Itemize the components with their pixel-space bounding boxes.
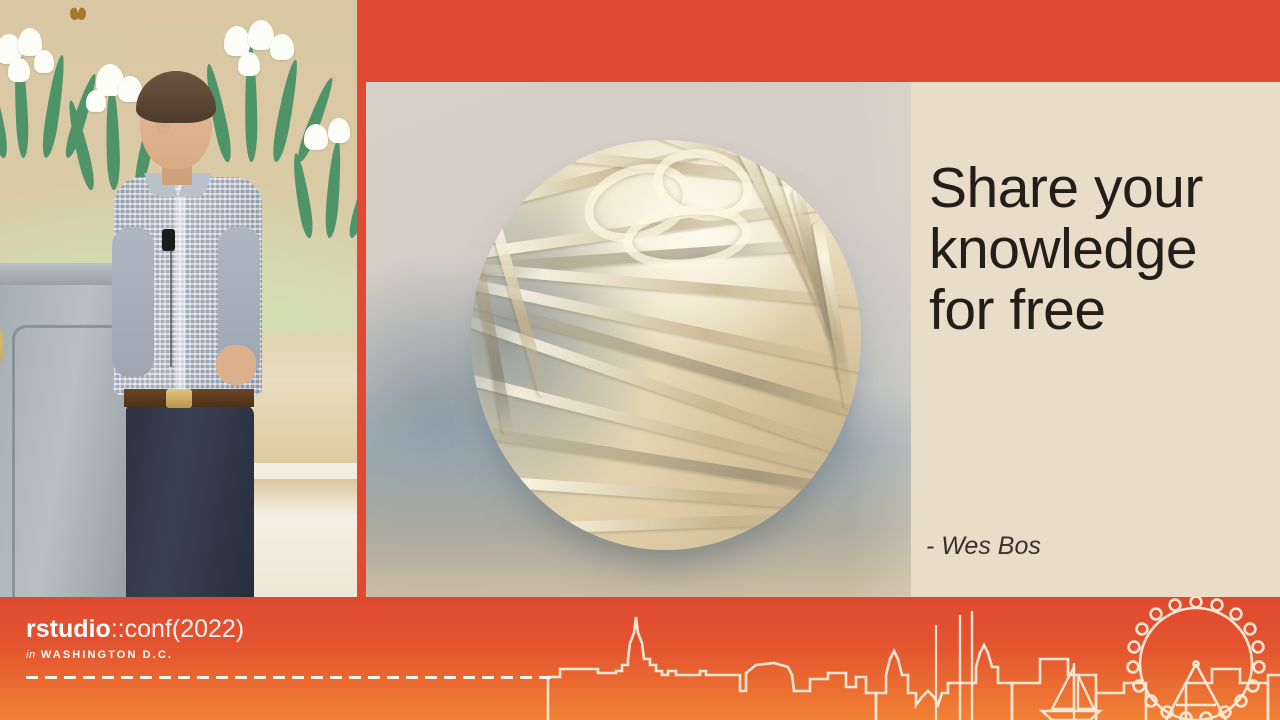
yarn-ball (471, 140, 861, 550)
quote-line-2: knowledge (929, 219, 1269, 280)
quote-line-1: Share your (929, 158, 1269, 219)
slide-quote: Share your knowledge for free (929, 158, 1269, 341)
shirt-placket (176, 181, 185, 393)
mural-butterfly (70, 8, 86, 21)
conference-name: rstudio::conf(2022) (26, 617, 244, 642)
presentation-slide[interactable]: Share your knowledge for free - Wes Bos (366, 82, 1280, 597)
quote-line-3: for free (929, 280, 1269, 341)
ferris-wheel-legs (1166, 664, 1226, 720)
brand-conf-year: ::conf(2022) (111, 615, 244, 643)
speaker-hair (136, 71, 216, 123)
microphone-cord (170, 249, 172, 367)
sailboat-icon (1042, 663, 1100, 720)
speaker (118, 77, 258, 597)
quote-attribution: - Wes Bos (926, 532, 1041, 561)
speaker-arm-left (112, 227, 154, 377)
speaker-hand (216, 345, 256, 385)
mural-iris-far-right (296, 118, 357, 238)
yarn-strands (471, 140, 861, 550)
location-prefix: in (26, 649, 36, 661)
podium-seal (0, 319, 4, 375)
footer-dashed-rule (26, 676, 554, 679)
conference-location: in WASHINGTON D.C. (26, 649, 244, 661)
speaker-video-panel[interactable] (0, 0, 357, 597)
ferris-wheel-cabins (1128, 597, 1265, 720)
location-city: WASHINGTON D.C. (41, 649, 173, 661)
yarn-photograph (366, 82, 911, 597)
conference-branding: rstudio::conf(2022) in WASHINGTON D.C. (26, 617, 244, 661)
brand-rstudio: rstudio (26, 615, 111, 643)
lapel-microphone (162, 229, 175, 251)
screen-capture: Share your knowledge for free - Wes Bos (0, 0, 1280, 720)
speaker-trousers (126, 405, 254, 597)
belt-buckle (166, 389, 192, 408)
conference-footer: rstudio::conf(2022) in WASHINGTON D.C. (0, 597, 1280, 720)
